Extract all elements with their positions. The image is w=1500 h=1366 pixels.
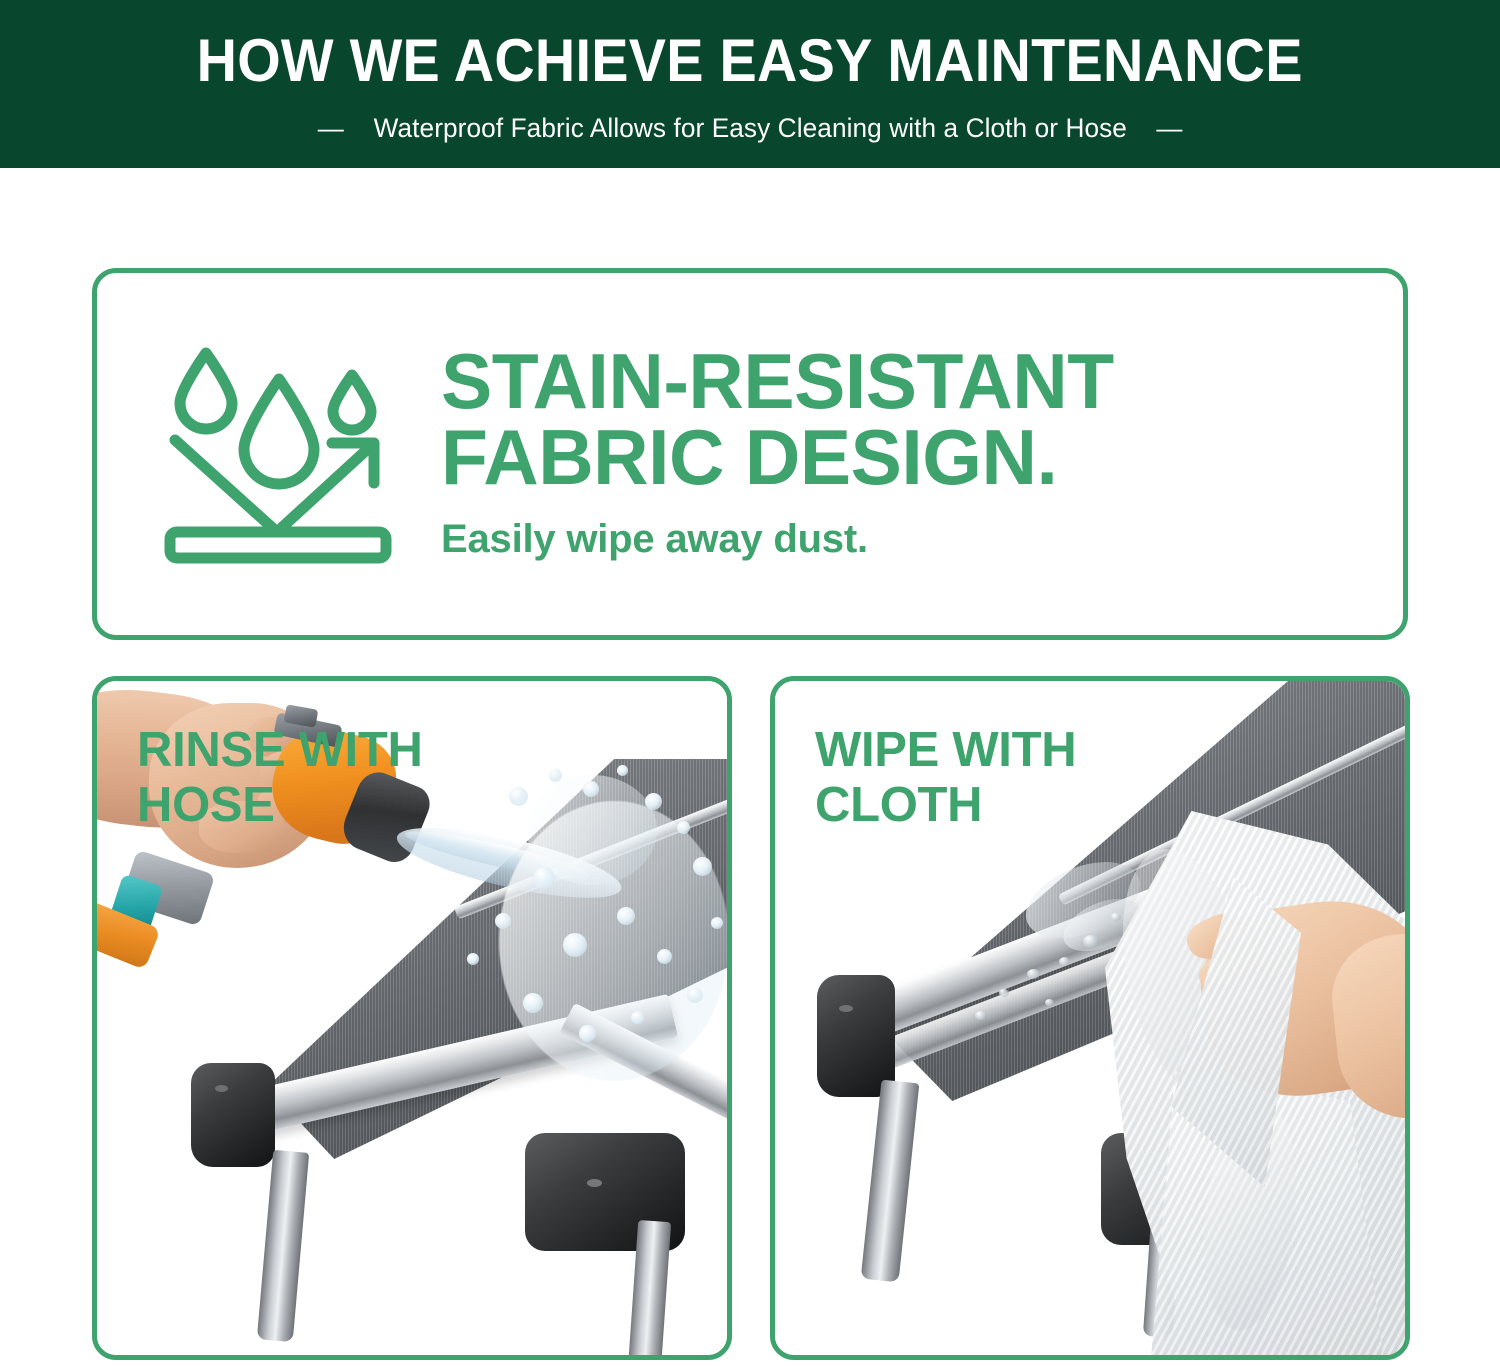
cot-corner-cap-left xyxy=(817,975,895,1097)
stain-resistant-feature-card: STAIN-RESISTANT FABRIC DESIGN. Easily wi… xyxy=(92,268,1408,640)
splash-droplet xyxy=(579,1025,596,1042)
splash-droplet xyxy=(711,917,723,929)
feature-heading: STAIN-RESISTANT FABRIC DESIGN. xyxy=(441,343,1389,496)
feature-subheading: Easily wipe away dust. xyxy=(441,517,1403,561)
feature-text-block: STAIN-RESISTANT FABRIC DESIGN. Easily wi… xyxy=(417,343,1403,566)
cot-cap-screw-left xyxy=(215,1085,228,1092)
splash-droplet xyxy=(563,933,587,957)
feature-heading-line-1: STAIN-RESISTANT xyxy=(441,343,1389,419)
water-bead xyxy=(975,1011,987,1020)
page-title: HOW WE ACHIEVE EASY MAINTENANCE xyxy=(197,31,1303,91)
splash-droplet xyxy=(617,907,635,925)
water-bead xyxy=(1027,969,1040,979)
splash-droplet xyxy=(645,793,662,810)
water-repellent-fabric-icon-svg xyxy=(158,339,408,569)
splash-droplet xyxy=(583,781,599,797)
header-banner: HOW WE ACHIEVE EASY MAINTENANCE — Waterp… xyxy=(0,0,1500,168)
splash-droplet xyxy=(495,913,511,929)
dash-left-decoration: — xyxy=(318,115,344,141)
water-repellent-fabric-icon xyxy=(149,335,417,573)
cot-leg-front xyxy=(257,1150,309,1342)
water-bead xyxy=(1059,957,1070,966)
splash-droplet xyxy=(617,765,628,776)
subtitle-row: — Waterproof Fabric Allows for Easy Clea… xyxy=(318,113,1183,144)
hose-rinsing-pet-cot-photo xyxy=(97,681,727,1355)
splash-droplet xyxy=(523,993,543,1013)
cot-leg-front xyxy=(861,1080,920,1283)
splash-droplet xyxy=(549,769,562,782)
cot-corner-cap-left xyxy=(191,1063,275,1167)
water-bead xyxy=(1045,999,1054,1006)
splash-droplet xyxy=(657,949,672,964)
splash-droplet xyxy=(687,987,703,1003)
splash-droplet xyxy=(467,953,479,965)
splash-droplet xyxy=(693,857,712,876)
wipe-with-cloth-card: WIPE WITH CLOTH xyxy=(770,676,1410,1360)
water-bead xyxy=(1083,935,1099,948)
feature-heading-line-2: FABRIC DESIGN. xyxy=(441,419,1389,495)
cot-cap-screw-right xyxy=(587,1179,602,1187)
water-bead xyxy=(999,989,1009,997)
rinse-with-hose-card: RINSE WITH HOSE xyxy=(92,676,732,1360)
splash-droplet xyxy=(677,821,690,834)
cloth-wiping-pet-cot-photo xyxy=(775,681,1405,1355)
water-bead xyxy=(1111,913,1121,921)
splash-droplet xyxy=(533,867,555,889)
thumb xyxy=(199,801,285,853)
infographic-page: HOW WE ACHIEVE EASY MAINTENANCE — Waterp… xyxy=(0,0,1500,1366)
cot-cap-screw-left xyxy=(839,1005,853,1012)
splash-droplet xyxy=(631,1011,644,1024)
dash-right-decoration: — xyxy=(1156,115,1182,141)
page-subtitle: Waterproof Fabric Allows for Easy Cleani… xyxy=(373,113,1126,144)
splash-droplet xyxy=(509,787,528,806)
